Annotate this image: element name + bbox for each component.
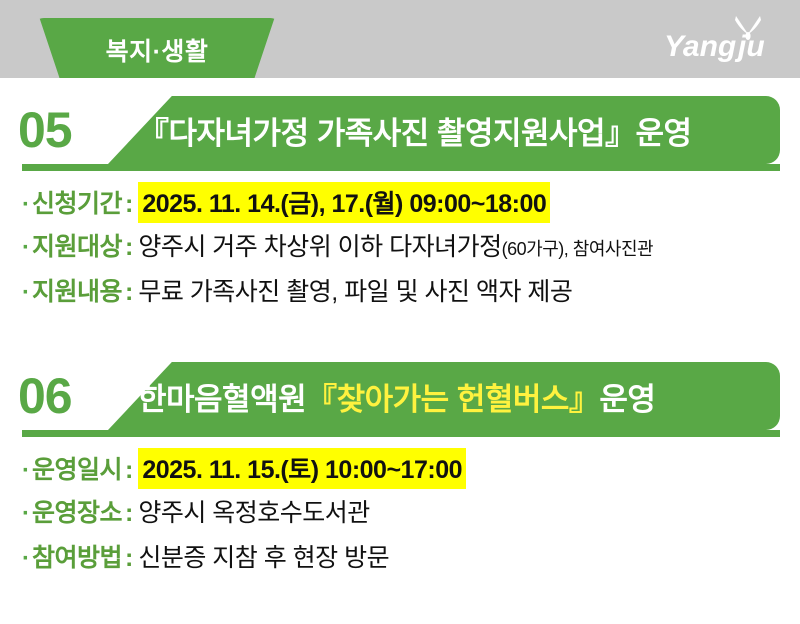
detail-value: 신분증 지참 후 현장 방문: [138, 538, 389, 574]
detail-value: 무료 가족사진 촬영, 파일 및 사진 액자 제공: [138, 272, 572, 308]
bullet-icon: ·: [22, 281, 30, 305]
section-05: 05 『다자녀가정 가족사진 촬영지원사업』 운영 · 신청기간 : 2025.…: [0, 96, 800, 317]
section-06: 06 한마음혈액원 『찾아가는 헌혈버스』 운영 · 운영일시 : 2025. …: [0, 362, 800, 583]
bullet-icon: ·: [22, 502, 30, 526]
detail-row: · 참여방법 : 신분증 지참 후 현장 방문: [22, 538, 800, 583]
detail-row: · 신청기간 : 2025. 11. 14.(금), 17.(월) 09:00~…: [22, 182, 800, 227]
detail-colon: :: [125, 456, 133, 485]
detail-label: 운영일시: [32, 450, 122, 486]
title-prefix: 한마음혈액원: [138, 374, 306, 419]
detail-colon: :: [125, 499, 133, 528]
bullet-icon: ·: [22, 193, 30, 217]
yangju-logo: Yang ju: [662, 8, 782, 66]
detail-value-main: 양주시 거주 차상위 이하 다자녀가정: [138, 233, 501, 261]
detail-row: · 운영장소 : 양주시 옥정호수도서관: [22, 493, 800, 538]
detail-value: 2025. 11. 15.(토) 10:00~17:00: [138, 448, 466, 489]
detail-label: 지원대상: [32, 227, 122, 263]
svg-text:ju: ju: [734, 30, 765, 63]
section-number: 06: [18, 364, 72, 428]
detail-label: 참여방법: [32, 538, 122, 574]
detail-value: 양주시 거주 차상위 이하 다자녀가정(60가구), 참여사진관: [138, 227, 653, 263]
svg-text:Yang: Yang: [664, 30, 736, 63]
title-suffix: 운영: [636, 108, 692, 153]
section-06-banner: 06 한마음혈액원 『찾아가는 헌혈버스』 운영: [0, 362, 800, 430]
section-number: 05: [18, 98, 72, 162]
detail-colon: :: [125, 233, 133, 262]
title-quoted: 『찾아가는 헌혈버스』: [306, 374, 599, 419]
detail-label: 지원내용: [32, 272, 122, 308]
detail-row: · 지원대상 : 양주시 거주 차상위 이하 다자녀가정(60가구), 참여사진…: [22, 227, 800, 272]
detail-label: 운영장소: [32, 493, 122, 529]
title-suffix: 운영: [599, 374, 655, 419]
bullet-icon: ·: [22, 236, 30, 260]
detail-label: 신청기간: [32, 184, 122, 220]
detail-colon: :: [125, 544, 133, 573]
detail-row: · 지원내용 : 무료 가족사진 촬영, 파일 및 사진 액자 제공: [22, 272, 800, 317]
category-tab-label: 복지·생활: [32, 18, 282, 78]
section-06-details: · 운영일시 : 2025. 11. 15.(토) 10:00~17:00 · …: [0, 430, 800, 583]
section-05-banner: 05 『다자녀가정 가족사진 촬영지원사업』 운영: [0, 96, 800, 164]
bullet-icon: ·: [22, 459, 30, 483]
section-title: 『다자녀가정 가족사진 촬영지원사업』 운영: [138, 96, 692, 164]
title-quoted: 『다자녀가정 가족사진 촬영지원사업』: [138, 108, 636, 153]
detail-value: 양주시 옥정호수도서관: [138, 493, 369, 529]
detail-colon: :: [125, 190, 133, 219]
detail-row: · 운영일시 : 2025. 11. 15.(토) 10:00~17:00: [22, 448, 800, 493]
detail-value: 2025. 11. 14.(금), 17.(월) 09:00~18:00: [138, 182, 550, 223]
detail-colon: :: [125, 278, 133, 307]
bullet-icon: ·: [22, 547, 30, 571]
section-05-details: · 신청기간 : 2025. 11. 14.(금), 17.(월) 09:00~…: [0, 164, 800, 317]
section-title: 한마음혈액원 『찾아가는 헌혈버스』 운영: [138, 362, 655, 430]
detail-value-note: (60가구), 참여사진관: [502, 239, 653, 259]
